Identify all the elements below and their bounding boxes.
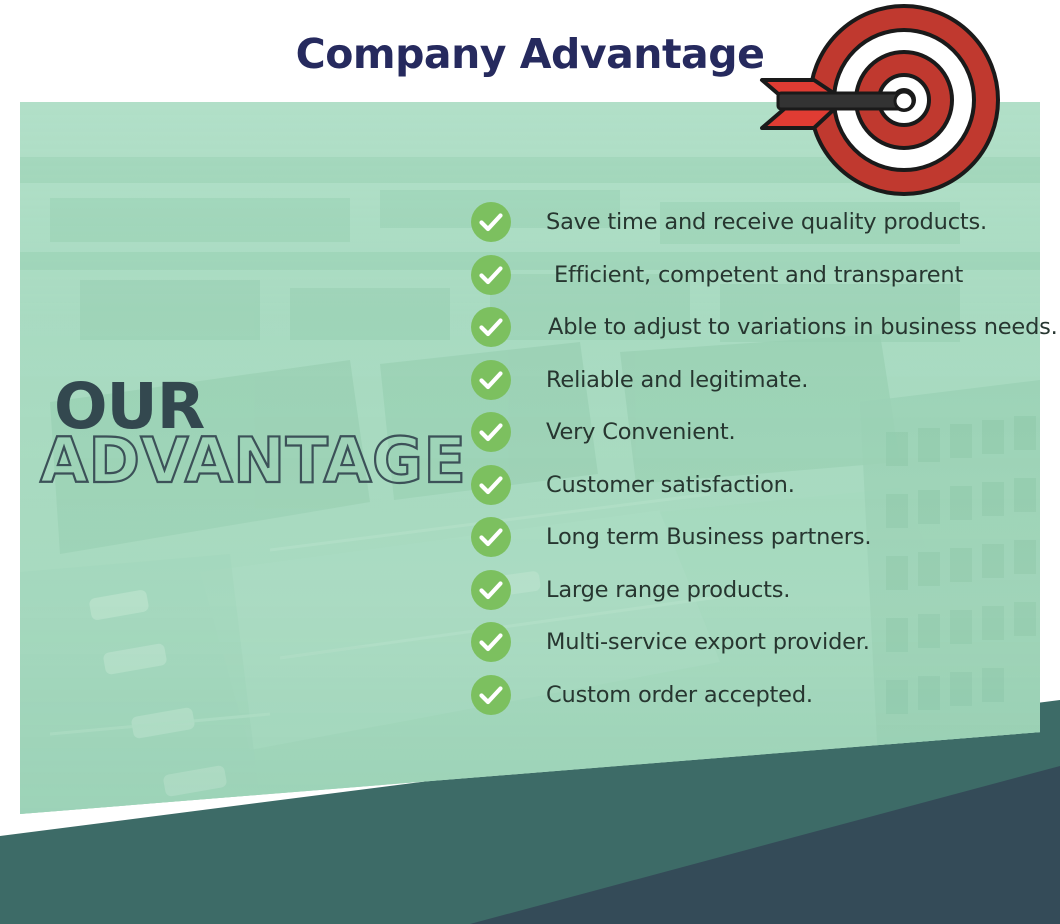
arrow-shaft [778, 93, 908, 109]
list-item: Efficient, competent and transparent [470, 249, 1045, 302]
advantages-checklist: Save time and receive quality products. … [470, 196, 1045, 721]
list-item: Multi-service export provider. [470, 616, 1045, 669]
our-advantage-wordmark: OUR ADVANTAGE [40, 378, 460, 491]
check-circle-icon [470, 569, 512, 611]
check-circle-icon [470, 674, 512, 716]
check-circle-icon [470, 201, 512, 243]
slide-canvas: OUR ADVANTAGE Save time and receive qual… [0, 0, 1060, 924]
check-circle-icon [470, 254, 512, 296]
list-item-label: Custom order accepted. [546, 682, 1045, 708]
list-item: Very Convenient. [470, 406, 1045, 459]
list-item: Custom order accepted. [470, 669, 1045, 722]
list-item: Long term Business partners. [470, 511, 1045, 564]
check-circle-icon [470, 306, 512, 348]
check-circle-icon [470, 359, 512, 401]
bullseye-target-icon [752, 2, 1004, 198]
list-item-label: Customer satisfaction. [546, 472, 1045, 498]
check-circle-icon [470, 621, 512, 663]
list-item: Customer satisfaction. [470, 459, 1045, 512]
list-item: Save time and receive quality products. [470, 196, 1045, 249]
list-item-label: Efficient, competent and transparent [554, 262, 1045, 288]
list-item-label: Reliable and legitimate. [546, 367, 1045, 393]
check-circle-icon [470, 516, 512, 558]
list-item-label: Long term Business partners. [546, 524, 1045, 550]
navy-diagonal-shape [470, 766, 1060, 924]
list-item-label: Large range products. [546, 577, 1045, 603]
check-circle-icon [470, 411, 512, 453]
list-item-label: Very Convenient. [546, 419, 1045, 445]
wordmark-line-advantage: ADVANTAGE [40, 432, 460, 491]
list-item: Reliable and legitimate. [470, 354, 1045, 407]
list-item-label: Able to adjust to variations in business… [548, 314, 1058, 340]
list-item-label: Multi-service export provider. [546, 629, 1045, 655]
list-item: Large range products. [470, 564, 1045, 617]
check-circle-icon [470, 464, 512, 506]
list-item-label: Save time and receive quality products. [546, 209, 1045, 235]
list-item: Able to adjust to variations in business… [470, 301, 1045, 354]
